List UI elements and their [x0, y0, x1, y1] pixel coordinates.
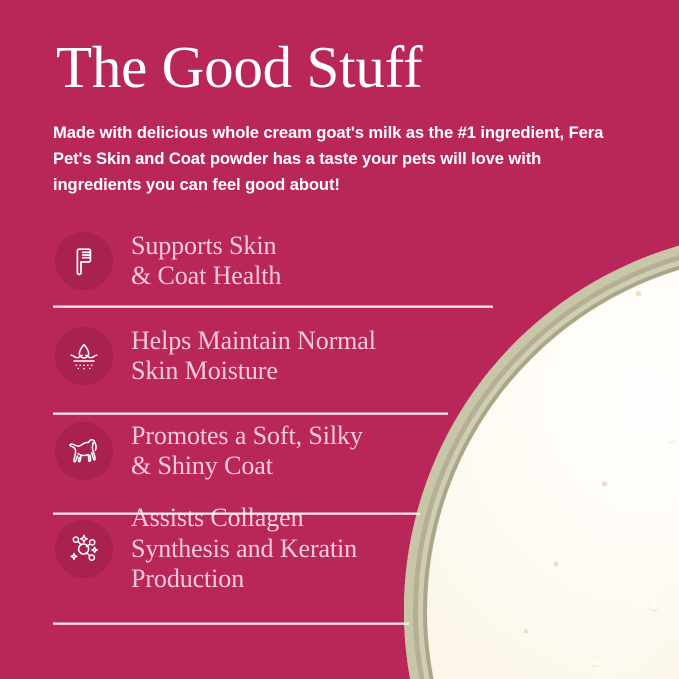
benefit-label-line: Assists Collagen — [131, 503, 357, 533]
benefit-label-line: & Shiny Coat — [131, 451, 363, 481]
benefit-label-line: Helps Maintain Normal — [131, 326, 376, 356]
benefit-label: Promotes a Soft, Silky & Shiny Coat — [131, 421, 363, 482]
benefit-label-line: Production — [131, 564, 357, 594]
benefit-label: Supports Skin & Coat Health — [131, 231, 281, 292]
benefit-label-line: Skin Moisture — [131, 356, 376, 386]
molecule-sparkle-icon — [55, 520, 113, 578]
benefit-label-line: Promotes a Soft, Silky — [131, 421, 363, 451]
comb-icon — [55, 232, 113, 290]
product-benefits-poster: The Good Stuff Made with delicious whole… — [0, 0, 679, 679]
benefit-item-promotes-soft-silky-shiny-coat: Promotes a Soft, Silky & Shiny Coat — [0, 408, 679, 494]
benefit-label: Assists Collagen Synthesis and Keratin P… — [131, 503, 357, 594]
benefit-item-supports-skin-coat-health: Supports Skin & Coat Health — [0, 218, 679, 304]
benefit-label-line: Synthesis and Keratin — [131, 534, 357, 564]
page-title: The Good Stuff — [56, 37, 422, 97]
water-droplet-skin-icon — [55, 327, 113, 385]
benefit-divider — [53, 622, 409, 625]
benefit-divider — [53, 412, 448, 415]
benefit-divider — [53, 512, 420, 515]
dog-icon — [55, 422, 113, 480]
benefit-label-line: Supports Skin — [131, 231, 281, 261]
benefit-label: Helps Maintain Normal Skin Moisture — [131, 326, 376, 387]
benefits-list: Supports Skin & Coat Health — [0, 218, 679, 604]
content-layer: The Good Stuff Made with delicious whole… — [0, 0, 679, 679]
benefit-item-helps-maintain-normal-skin-moisture: Helps Maintain Normal Skin Moisture — [0, 304, 679, 408]
benefit-label-line: & Coat Health — [131, 261, 281, 291]
benefit-item-assists-collagen-synthesis-keratin-production: Assists Collagen Synthesis and Keratin P… — [0, 494, 679, 604]
benefit-divider — [53, 305, 493, 308]
subheading-paragraph: Made with delicious whole cream goat's m… — [53, 120, 613, 199]
